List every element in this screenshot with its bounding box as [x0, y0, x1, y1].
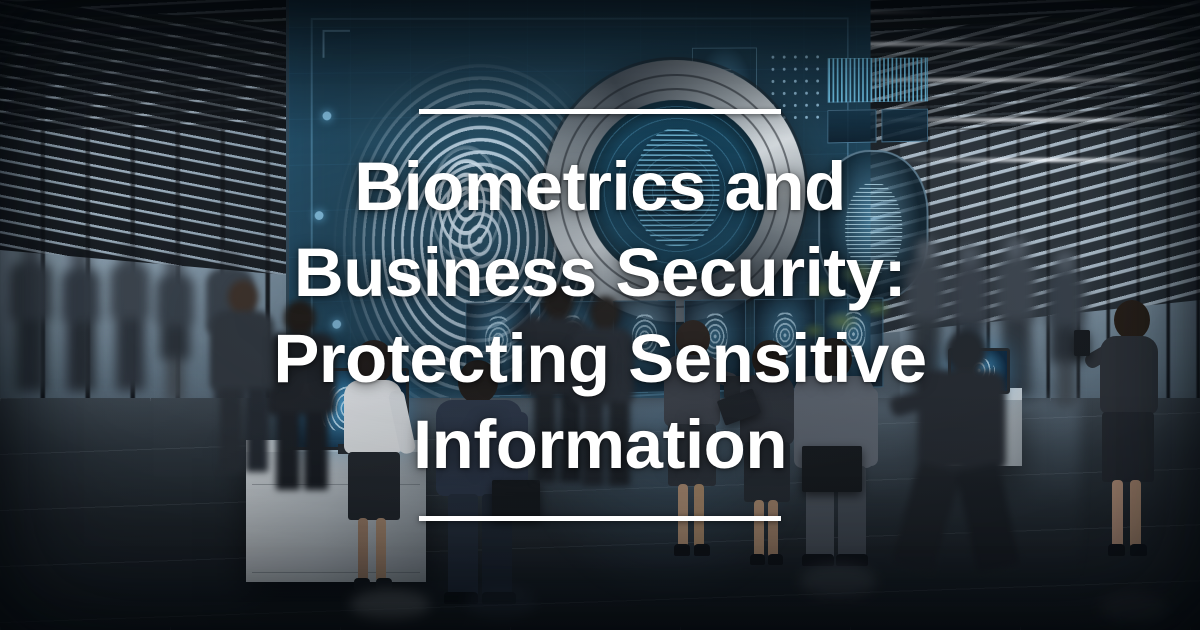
hero-banner: Biometrics and Business Security: Protec… — [0, 0, 1200, 630]
title-overlay: Biometrics and Business Security: Protec… — [0, 0, 1200, 630]
page-title: Biometrics and Business Security: Protec… — [273, 144, 926, 488]
title-rule-top — [419, 109, 781, 114]
title-rule-bottom — [419, 516, 781, 521]
